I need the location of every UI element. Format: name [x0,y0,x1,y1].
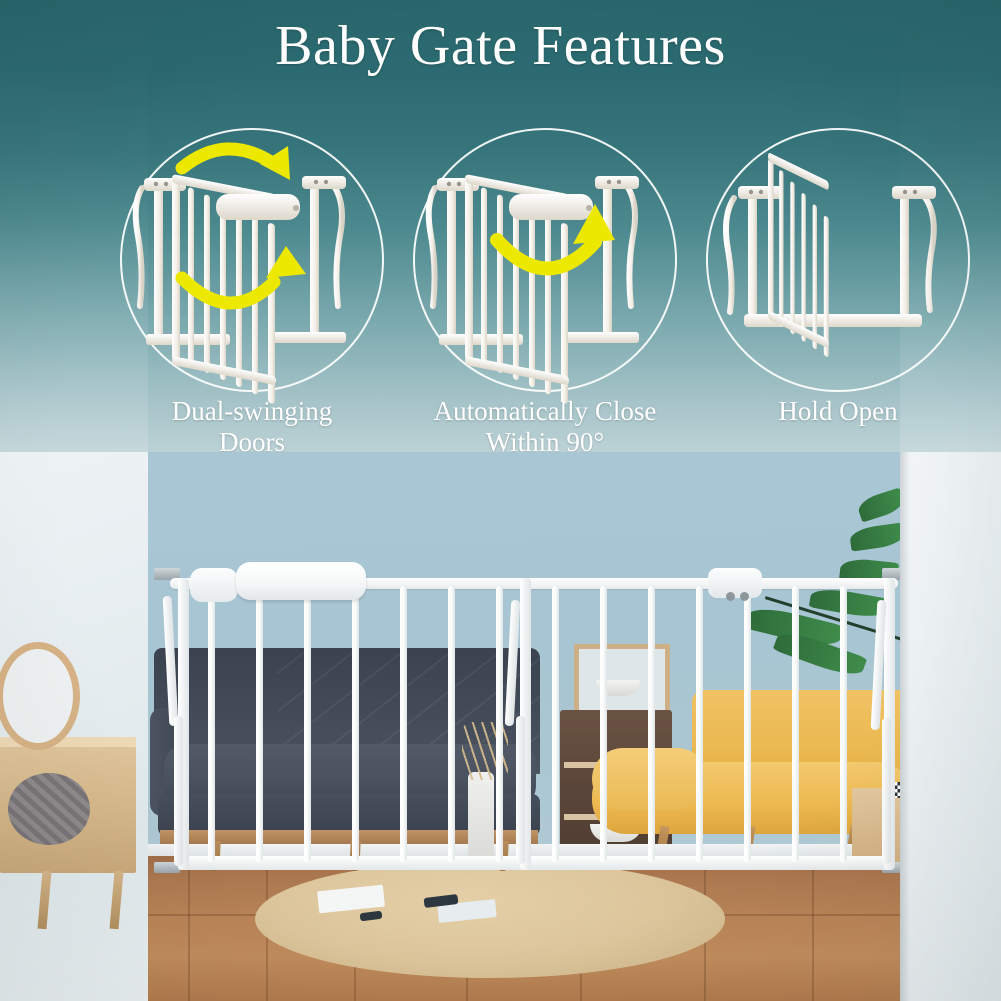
feature-caption: Hold Open [678,396,998,427]
gate-illustration-dual-swinging [120,128,384,392]
gate-illustration-auto-close [413,128,677,392]
infographic-canvas: Baby Gate Features [0,0,1001,1001]
feature-automatically-close: Automatically Close Within 90° [385,128,705,458]
room-lifestyle-photo [0,452,1001,1001]
cabinet-circular-panel [8,773,90,845]
wall-right-doorframe [900,452,1001,1001]
gate-illustration-hold-open [706,128,970,392]
feature-caption-line1: Automatically Close [434,396,657,426]
feature-dual-swinging-doors: Dual-swinging Doors [92,128,412,458]
feature-hold-open: Hold Open [678,128,998,458]
page-title: Baby Gate Features [0,16,1001,76]
feature-caption: Automatically Close Within 90° [385,396,705,458]
feature-caption-line1: Dual-swinging [172,396,332,426]
feature-caption-line1: Hold Open [778,396,897,426]
gate-knob [190,568,238,602]
gate-latch [708,568,762,598]
installed-baby-gate [148,556,914,901]
feature-caption: Dual-swinging Doors [92,396,412,458]
feature-row: Dual-swinging Doors [0,128,1001,458]
gate-handle [236,562,366,600]
gate-bottom-rail [178,856,890,870]
wood-cabinet [0,745,136,873]
